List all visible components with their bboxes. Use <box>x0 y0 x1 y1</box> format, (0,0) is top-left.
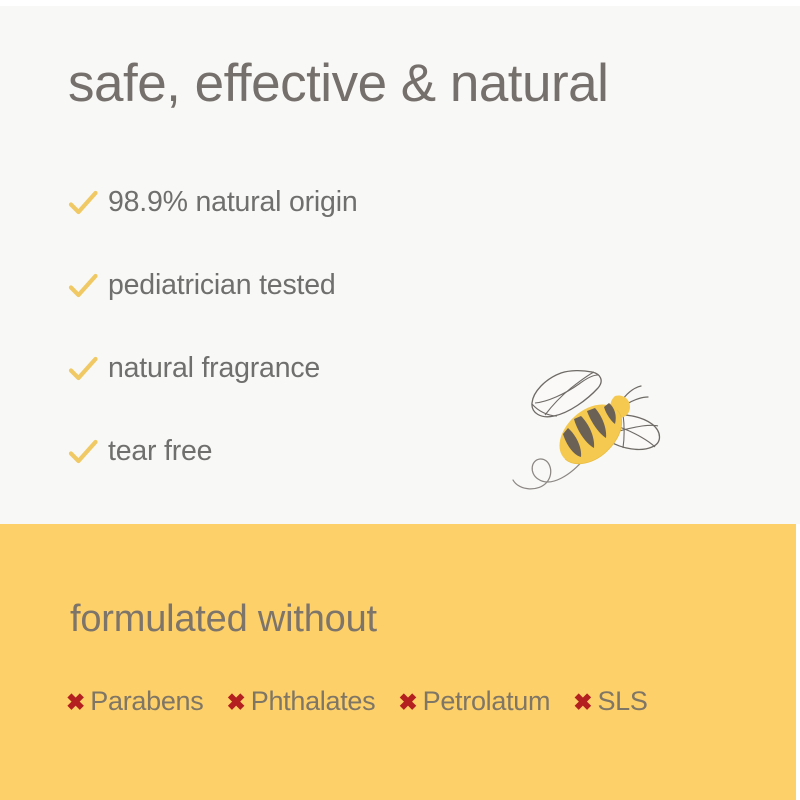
cross-icon: ✖ <box>66 691 85 714</box>
product-claims-card: safe, effective & natural 98.9% natural … <box>0 0 800 800</box>
cross-icon: ✖ <box>398 691 417 714</box>
without-label: Parabens <box>90 688 203 715</box>
bee-illustration <box>505 358 690 498</box>
bee-antenna-icon <box>623 386 641 399</box>
list-item: ✖ Petrolatum <box>398 688 550 715</box>
list-item: ✖ Phthalates <box>226 688 375 715</box>
formulated-without-panel <box>0 524 796 800</box>
without-list: ✖ Parabens ✖ Phthalates ✖ Petrolatum ✖ S… <box>66 688 648 715</box>
check-icon <box>66 435 100 469</box>
benefit-label: natural fragrance <box>108 352 320 385</box>
bee-body-icon <box>559 403 621 464</box>
list-item: pediatrician tested <box>66 244 586 327</box>
cross-icon: ✖ <box>226 691 245 714</box>
benefit-label: tear free <box>108 435 212 468</box>
without-label: Phthalates <box>251 688 376 715</box>
check-icon <box>66 269 100 303</box>
list-item: ✖ SLS <box>573 688 647 715</box>
page-title: safe, effective & natural <box>68 56 608 112</box>
benefit-label: pediatrician tested <box>108 269 336 302</box>
bee-antenna-icon <box>627 397 648 404</box>
list-item: 98.9% natural origin <box>66 161 586 244</box>
section-title: formulated without <box>70 598 377 641</box>
cross-icon: ✖ <box>573 691 592 714</box>
check-icon <box>66 352 100 386</box>
benefit-label: 98.9% natural origin <box>108 186 358 219</box>
without-label: Petrolatum <box>423 688 551 715</box>
without-label: SLS <box>597 688 647 715</box>
list-item: ✖ Parabens <box>66 688 203 715</box>
benefits-panel: safe, effective & natural 98.9% natural … <box>0 6 800 524</box>
check-icon <box>66 186 100 220</box>
